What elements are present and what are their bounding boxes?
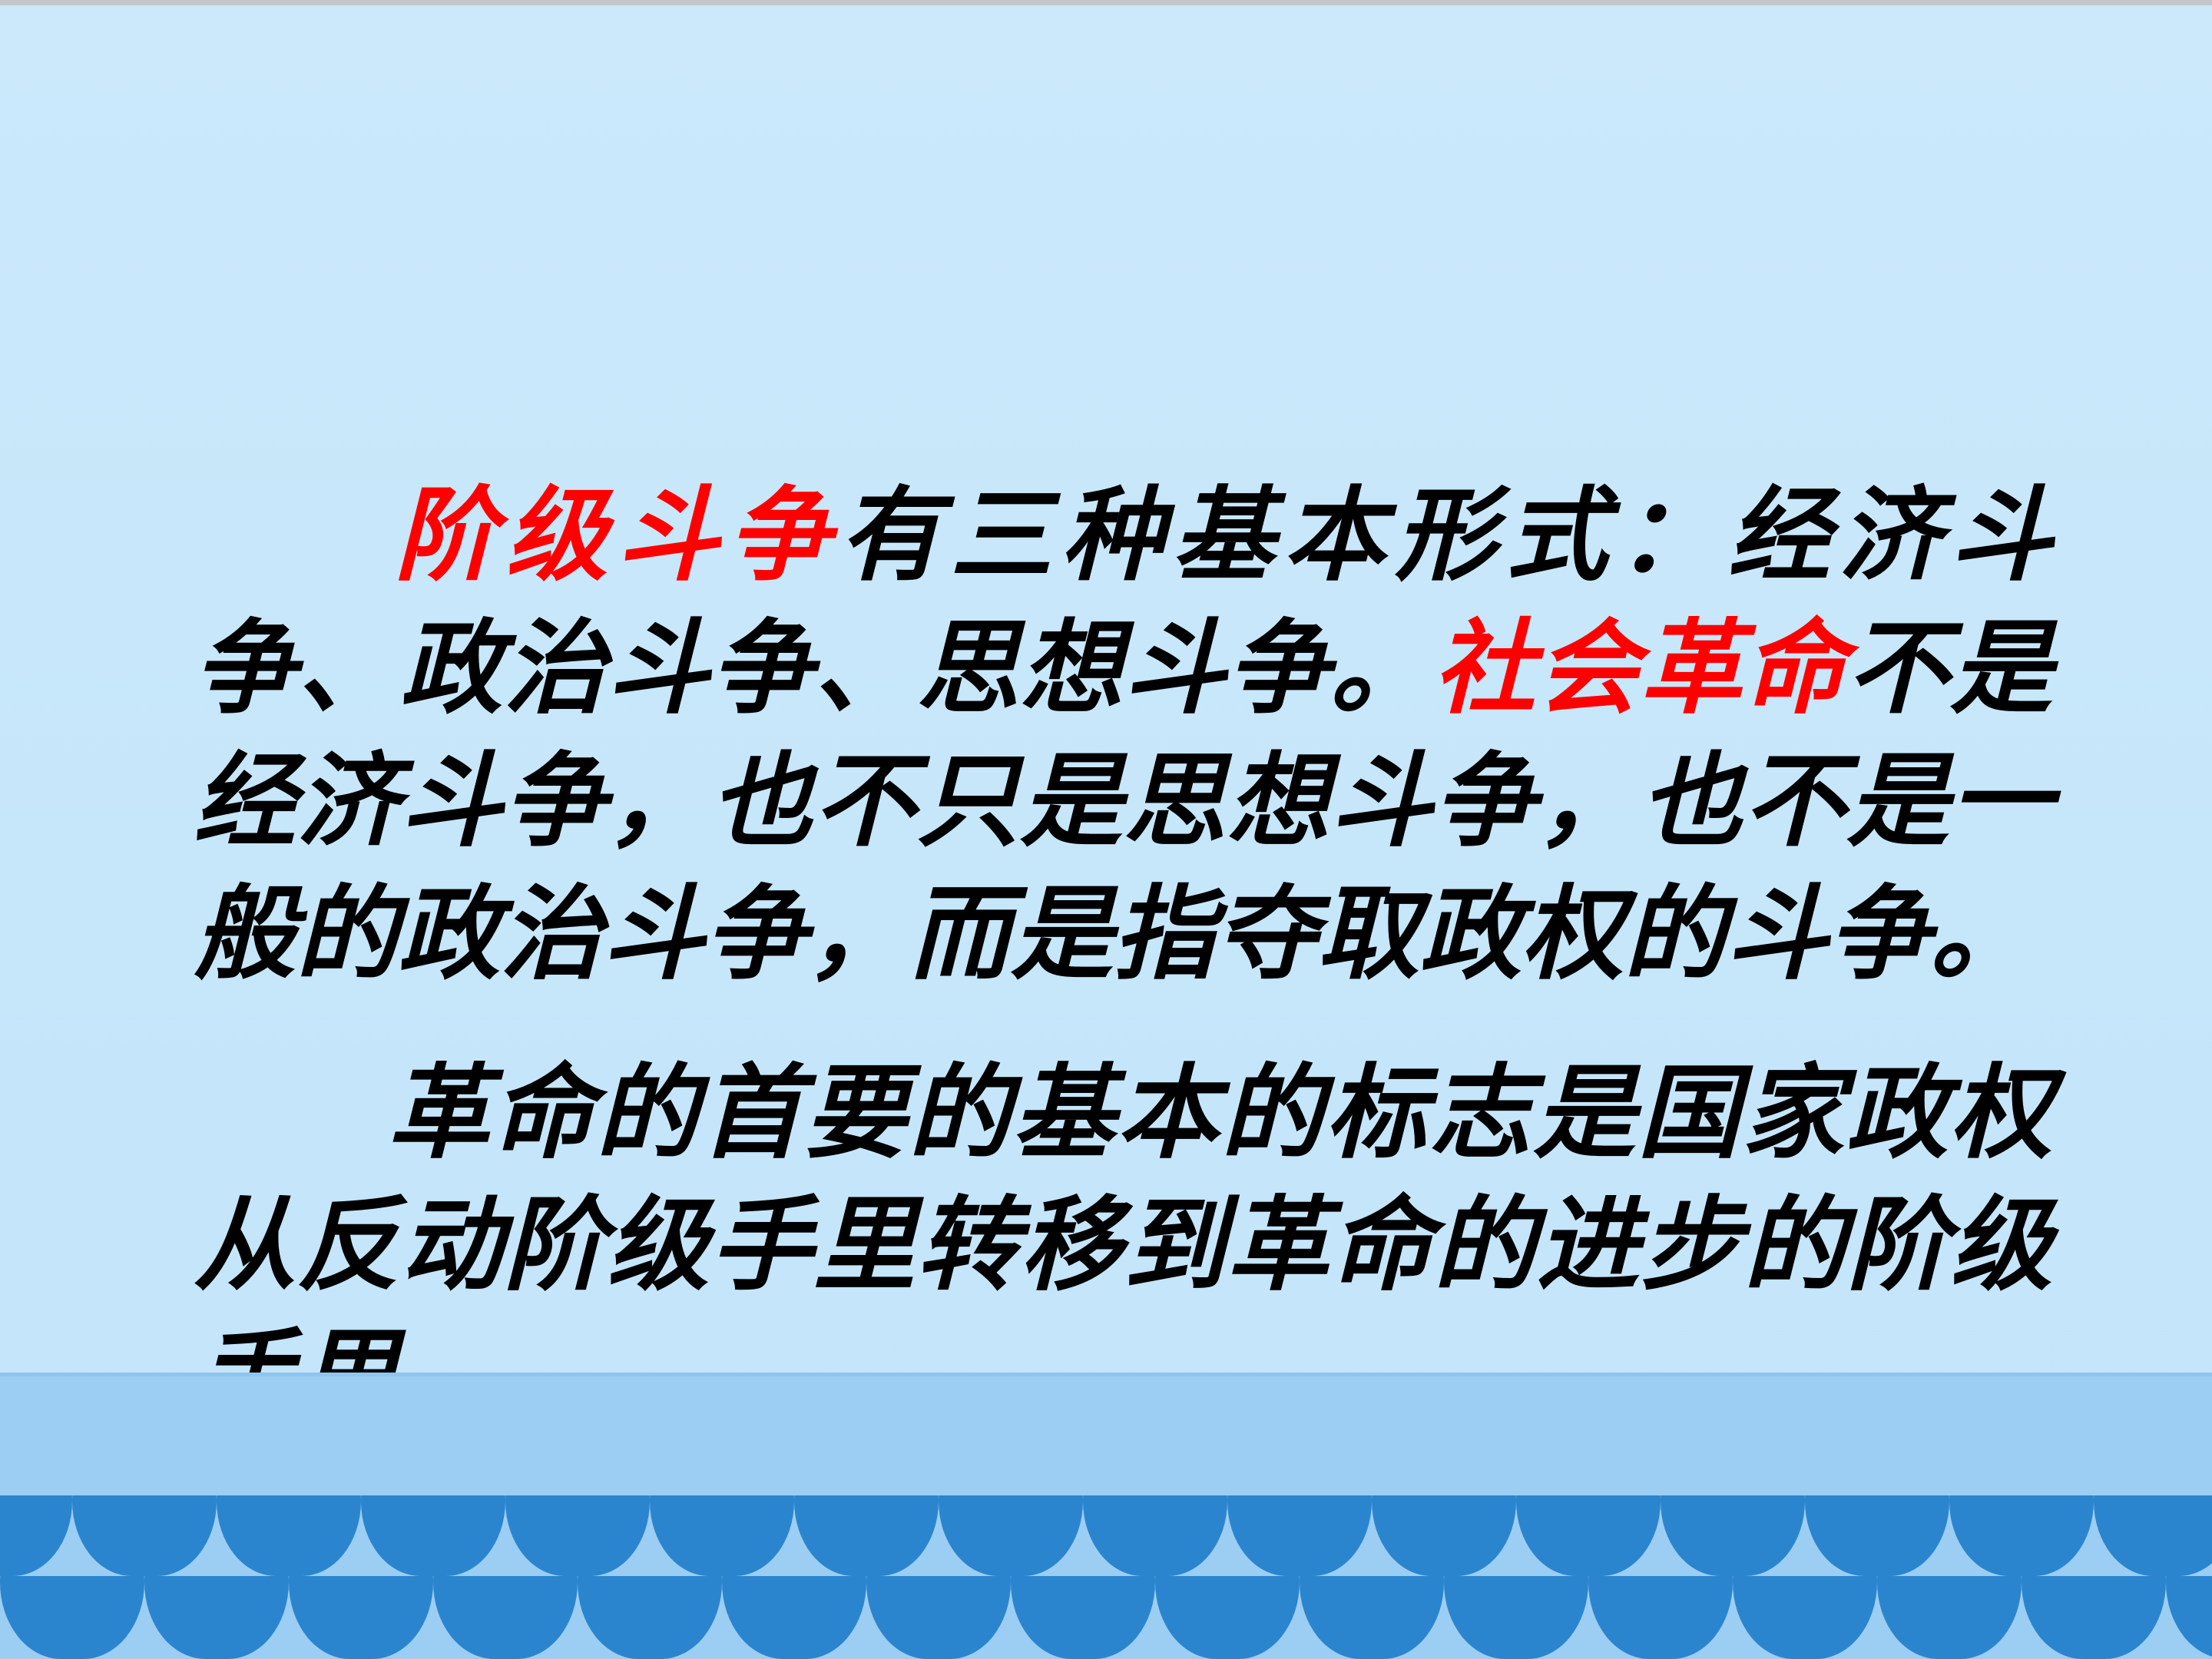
slide-body-text: 阶级斗争有三种基本形式：经济斗争、政治斗争、思想斗争。社会革命不是经济斗争，也不… bbox=[194, 470, 2052, 1445]
scallop-arch bbox=[1372, 1495, 1516, 1576]
scallop-arch bbox=[1733, 1576, 1877, 1659]
scallop-arch bbox=[794, 1495, 939, 1576]
scallop-arch bbox=[1516, 1495, 1661, 1576]
paragraph-1: 阶级斗争有三种基本形式：经济斗争、政治斗争、思想斗争。社会革命不是经济斗争，也不… bbox=[194, 470, 2052, 1002]
scallop-arch bbox=[1661, 1495, 1805, 1576]
scallop-arch bbox=[1227, 1495, 1372, 1576]
paragraph-1-highlight-1: 阶级斗争 bbox=[386, 479, 839, 593]
scallop-arch bbox=[939, 1495, 1083, 1576]
scallop-arch bbox=[433, 1576, 578, 1659]
scallop-row-upper bbox=[0, 1495, 2212, 1576]
top-edge-rule bbox=[0, 0, 2212, 5]
scallop-arch bbox=[217, 1495, 361, 1576]
scallop-arch bbox=[1444, 1576, 1588, 1659]
bottom-decorative-band bbox=[0, 1373, 2212, 1659]
scallop-arch bbox=[2166, 1576, 2212, 1659]
scallop-arch bbox=[1083, 1495, 1227, 1576]
paragraph-1-highlight-2: 社会革命 bbox=[1433, 612, 1846, 726]
scallop-arch bbox=[1011, 1576, 1155, 1659]
scallop-arch bbox=[2022, 1576, 2166, 1659]
scallop-arch bbox=[1155, 1576, 1300, 1659]
scallop-arch bbox=[505, 1495, 650, 1576]
scallop-arch bbox=[722, 1576, 866, 1659]
scallop-arch bbox=[72, 1495, 217, 1576]
scallop-arch bbox=[866, 1576, 1011, 1659]
scallop-arch bbox=[1300, 1576, 1444, 1659]
scallop-arch bbox=[0, 1576, 144, 1659]
band-top-rule bbox=[0, 1373, 2212, 1376]
scallop-arch bbox=[144, 1576, 289, 1659]
scallop-arch bbox=[1877, 1576, 2022, 1659]
scallop-arch bbox=[1805, 1495, 1949, 1576]
scallop-arch bbox=[289, 1576, 433, 1659]
scallop-arch bbox=[2094, 1495, 2212, 1576]
scallop-arch bbox=[578, 1576, 722, 1659]
slide-canvas: 阶级斗争有三种基本形式：经济斗争、政治斗争、思想斗争。社会革命不是经济斗争，也不… bbox=[0, 0, 2212, 1659]
scallop-arch bbox=[650, 1495, 794, 1576]
scallop-arch bbox=[0, 1495, 72, 1576]
scallop-arch bbox=[361, 1495, 505, 1576]
scallop-arch bbox=[1949, 1495, 2094, 1576]
scallop-row-lower bbox=[0, 1576, 2212, 1659]
scallop-arch bbox=[1588, 1576, 1733, 1659]
